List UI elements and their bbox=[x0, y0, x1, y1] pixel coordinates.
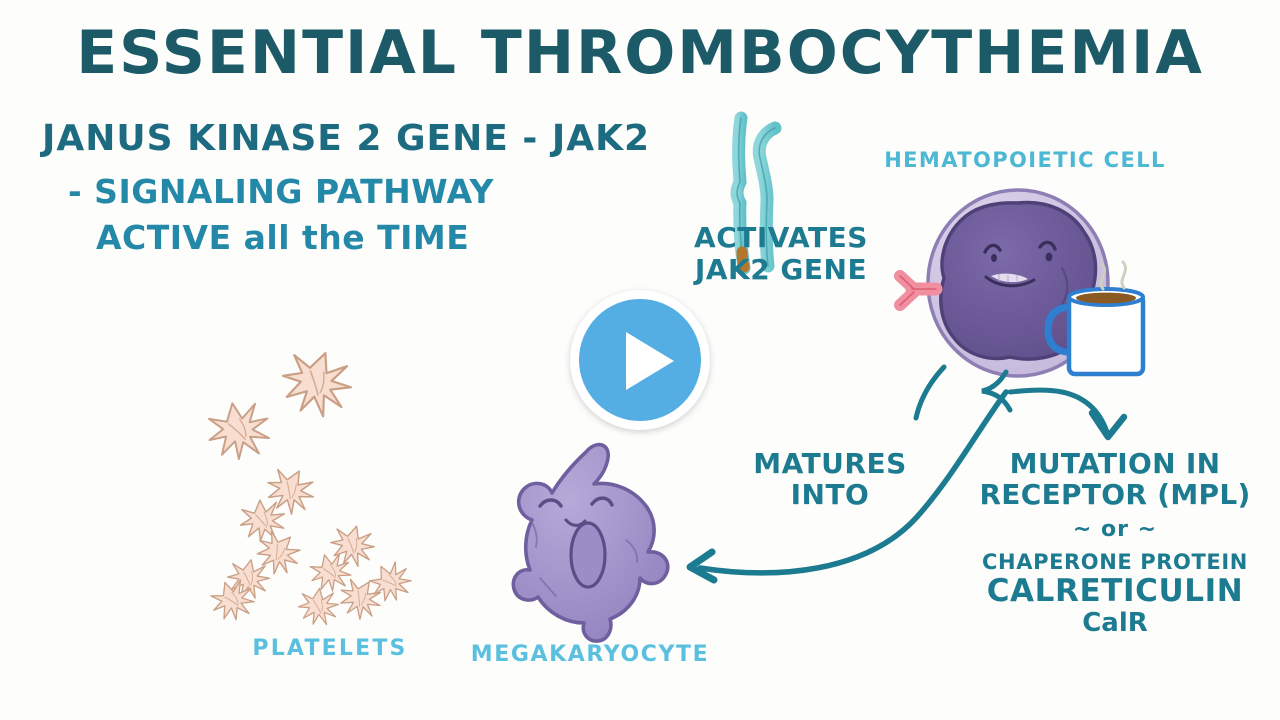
branch-arrow-to-mutation bbox=[916, 367, 1124, 437]
page-title: ESSENTIAL THROMBOCYTHEMIA bbox=[0, 22, 1280, 85]
activates-caption: ACTIVATES JAK2 GENE bbox=[686, 222, 876, 286]
mutation-or-separator: ~ or ~ bbox=[965, 517, 1265, 542]
platelet-cluster bbox=[203, 343, 417, 626]
play-icon bbox=[626, 332, 674, 390]
jak2-bullet-line-1: - SIGNALING PATHWAY bbox=[68, 172, 494, 211]
play-button[interactable] bbox=[570, 290, 710, 430]
illustration-canvas: ESSENTIAL THROMBOCYTHEMIA JANUS KINASE 2… bbox=[0, 0, 1280, 720]
mpl-receptor-icon bbox=[900, 276, 936, 305]
chaperone-protein-label: CHAPERONE PROTEIN bbox=[965, 550, 1265, 574]
activates-line-2: JAK2 GENE bbox=[686, 254, 876, 286]
hematopoietic-cell bbox=[900, 190, 1143, 376]
mutation-line-1: MUTATION IN bbox=[965, 448, 1265, 479]
megakaryocyte-label: MEGAKARYOCYTE bbox=[430, 642, 750, 667]
calr-abbreviation: CalR bbox=[965, 608, 1265, 638]
megakaryocyte-cell bbox=[513, 445, 667, 641]
coffee-mug-icon bbox=[1048, 262, 1143, 374]
calreticulin-label: CALRETICULIN bbox=[965, 575, 1265, 608]
activates-line-1: ACTIVATES bbox=[686, 222, 876, 254]
hematopoietic-cell-label: HEMATOPOIETIC CELL bbox=[880, 148, 1170, 172]
mutation-line-2: RECEPTOR (MPL) bbox=[965, 479, 1265, 510]
jak2-heading: JANUS KINASE 2 GENE - JAK2 bbox=[42, 118, 650, 159]
matures-line-1: MATURES bbox=[740, 448, 920, 479]
jak2-bullet-line-2: ACTIVE all the TIME bbox=[96, 218, 469, 257]
matures-line-2: INTO bbox=[740, 479, 920, 510]
mutation-text-block: MUTATION IN RECEPTOR (MPL) ~ or ~ CHAPER… bbox=[965, 448, 1265, 638]
matures-into-caption: MATURES INTO bbox=[740, 448, 920, 511]
